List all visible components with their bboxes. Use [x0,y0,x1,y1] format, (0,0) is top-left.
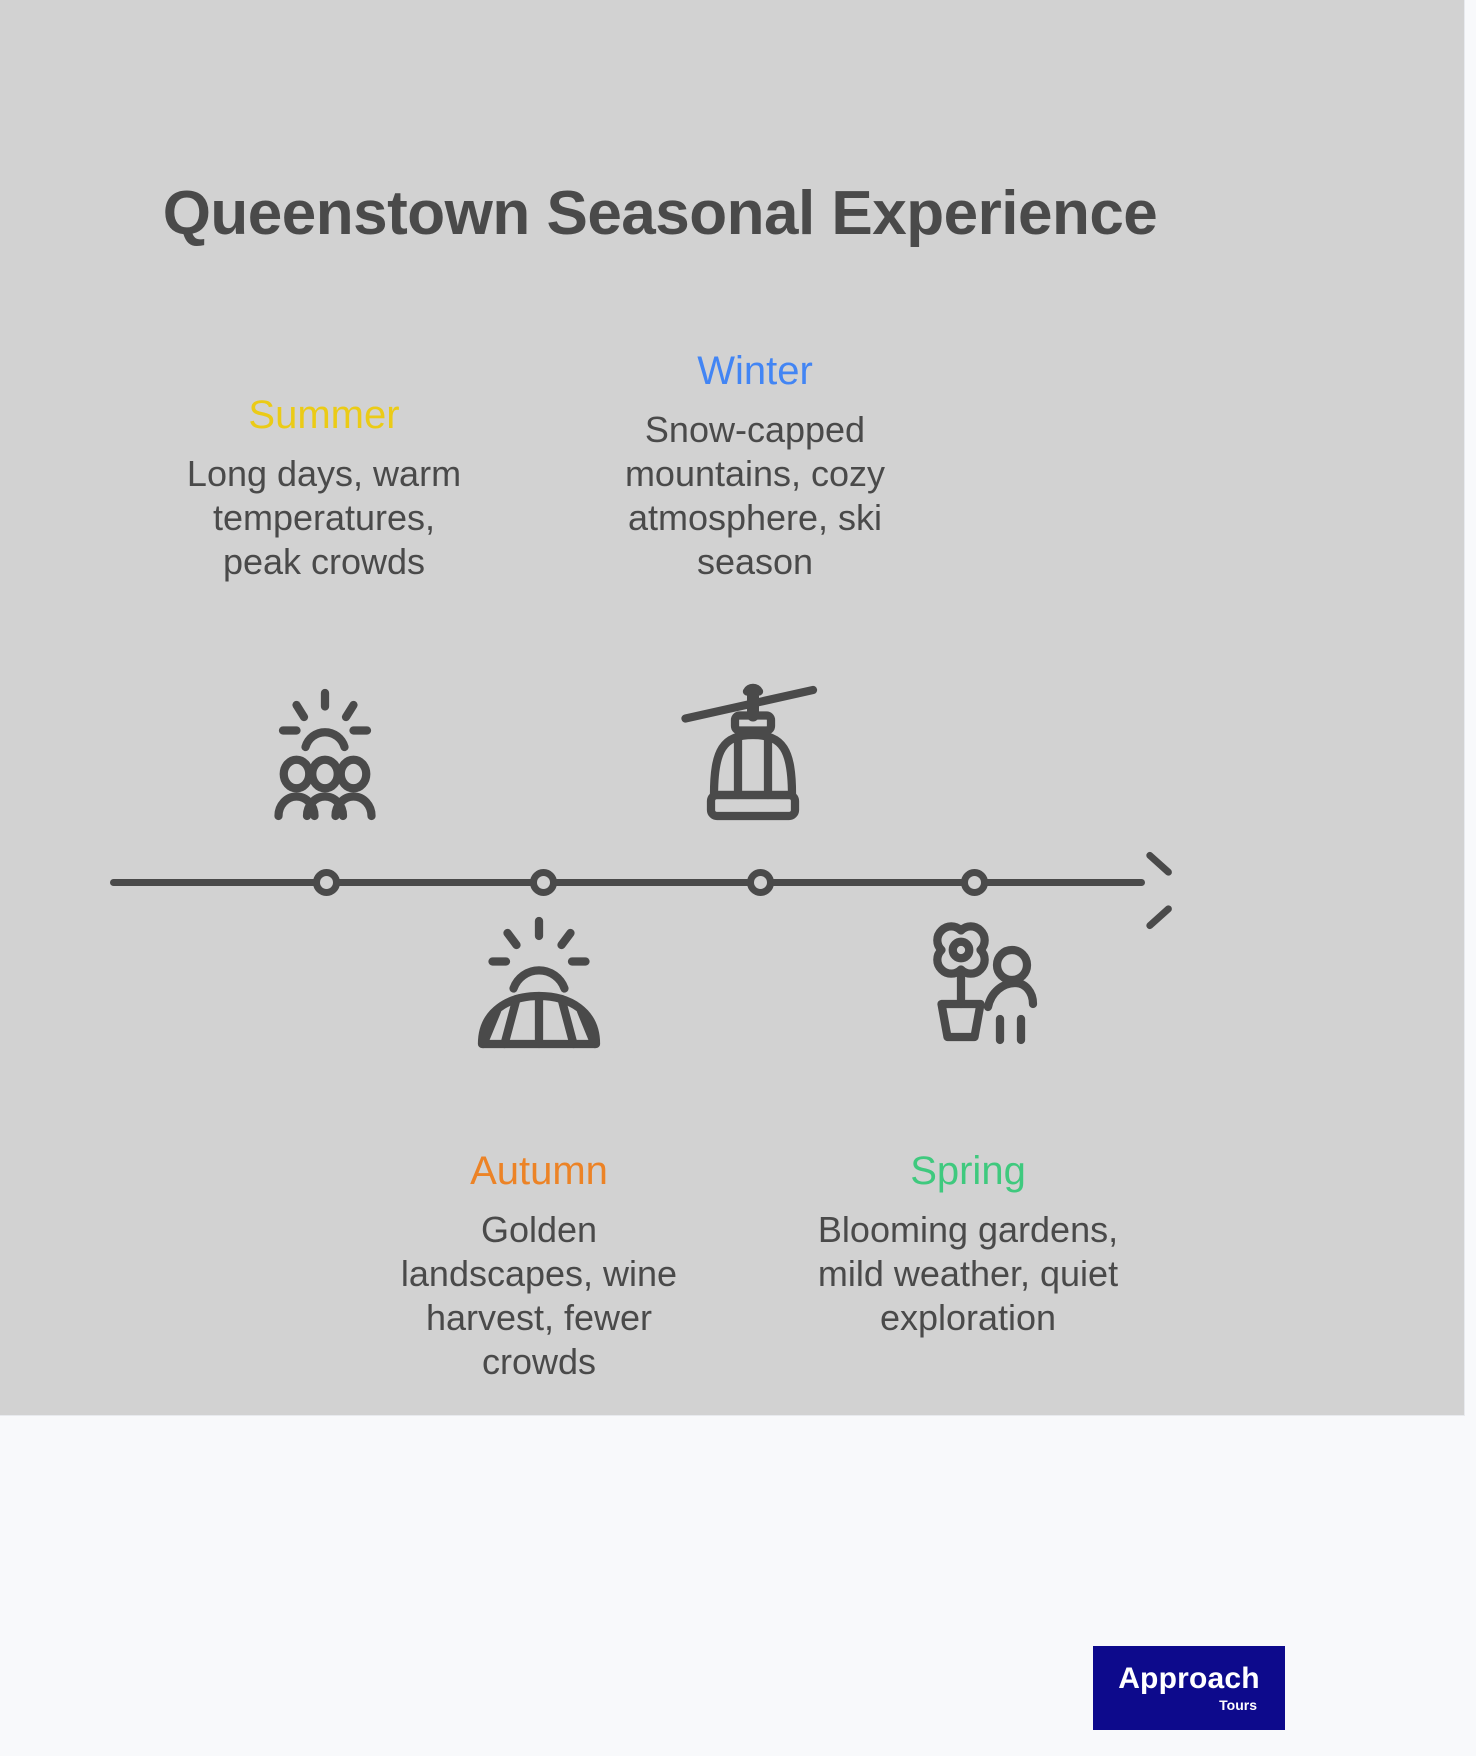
season-description-summer: Long days, warm temperatures, peak crowd… [179,452,469,584]
season-label-autumn: Autumn [388,1148,690,1194]
timeline-node-2[interactable] [530,869,557,896]
season-block-spring: Spring Blooming gardens, mild weather, q… [810,1148,1126,1340]
timeline-line [110,879,1145,886]
timeline-arrow-icon [1135,863,1175,903]
sun-over-vineyard-icon [464,912,614,1062]
page-canvas: Queenstown Seasonal Experience Summer Lo… [0,0,1476,1756]
approach-tours-logo[interactable]: Approach Tours [1093,1646,1285,1730]
season-label-winter: Winter [600,348,910,394]
timeline-axis [110,855,1190,915]
season-description-spring: Blooming gardens, mild weather, quiet ex… [810,1208,1126,1340]
timeline-node-1[interactable] [313,869,340,896]
season-description-autumn: Golden landscapes, wine harvest, fewer c… [394,1208,684,1384]
season-description-winter: Snow-capped mountains, cozy atmosphere, … [610,408,900,584]
gondola-cable-car-icon [678,678,828,828]
page-title: Queenstown Seasonal Experience [0,178,1320,249]
timeline-node-3[interactable] [747,869,774,896]
infographic-panel: Queenstown Seasonal Experience Summer Lo… [0,0,1465,1416]
season-label-summer: Summer [144,392,504,438]
sun-with-crowd-icon [250,687,400,837]
season-block-summer: Summer Long days, warm temperatures, pea… [144,392,504,584]
season-block-winter: Winter Snow-capped mountains, cozy atmos… [600,348,910,584]
season-label-spring: Spring [810,1148,1126,1194]
timeline-node-4[interactable] [961,869,988,896]
logo-wordmark: Approach [1118,1664,1260,1694]
logo-subtitle: Tours [1219,1698,1257,1712]
flower-pot-and-person-icon [895,908,1045,1058]
season-block-autumn: Autumn Golden landscapes, wine harvest, … [388,1148,690,1384]
